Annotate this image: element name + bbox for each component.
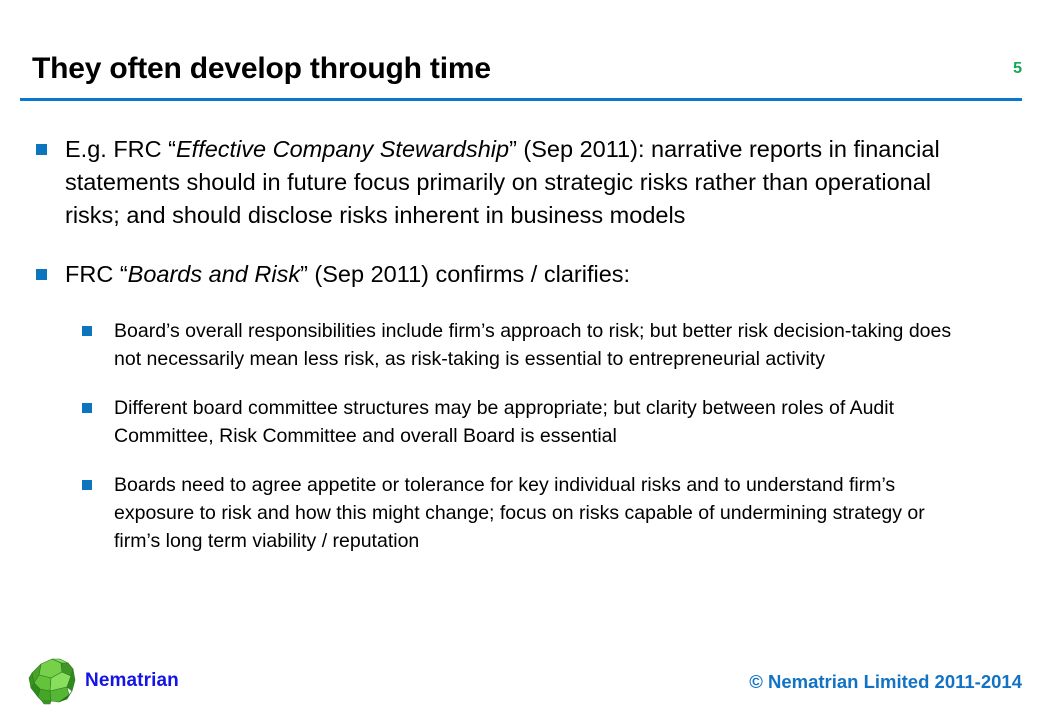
bullet-square-icon xyxy=(82,403,92,413)
bullet-text: FRC “Boards and Risk” (Sep 2011) confirm… xyxy=(65,258,985,291)
plain-text: FRC “ xyxy=(65,261,128,287)
plain-text: ” (Sep 2011) confirms / clarifies: xyxy=(300,261,630,287)
bullet-item-level2: Different board committee structures may… xyxy=(0,394,1040,450)
plain-text: Board’s overall responsibilities include… xyxy=(114,320,951,370)
slide: They often develop through time 5 E.g. F… xyxy=(0,0,1040,720)
slide-number: 5 xyxy=(1013,60,1022,78)
title-divider xyxy=(20,98,1022,101)
bullet-text: Different board committee structures may… xyxy=(114,394,974,450)
emphasis-text: Boards and Risk xyxy=(128,261,300,287)
bullet-item-level1: FRC “Boards and Risk” (Sep 2011) confirm… xyxy=(0,258,1040,291)
title-row: They often develop through time 5 xyxy=(0,52,1040,96)
bullet-text: E.g. FRC “Effective Company Stewardship”… xyxy=(65,133,985,232)
plain-text: Boards need to agree appetite or toleran… xyxy=(114,474,925,552)
copyright-text: © Nematrian Limited 2011-2014 xyxy=(749,671,1022,693)
bullet-item-level2: Boards need to agree appetite or toleran… xyxy=(0,471,1040,555)
bullet-square-icon xyxy=(82,326,92,336)
page-title: They often develop through time xyxy=(32,52,491,86)
slide-body: E.g. FRC “Effective Company Stewardship”… xyxy=(0,133,1040,576)
bullet-item-level2: Board’s overall responsibilities include… xyxy=(0,317,1040,373)
emphasis-text: Effective Company Stewardship xyxy=(176,136,509,162)
plain-text: E.g. FRC “ xyxy=(65,136,176,162)
bullet-square-icon xyxy=(36,144,47,155)
bullet-square-icon xyxy=(36,269,47,280)
slide-footer: Nematrian © Nematrian Limited 2011-2014 xyxy=(0,634,1040,720)
polyhedron-sphere-icon xyxy=(27,656,77,706)
brand-logo: Nematrian xyxy=(27,656,179,706)
bullet-text: Board’s overall responsibilities include… xyxy=(114,317,974,373)
bullet-square-icon xyxy=(82,480,92,490)
bullet-text: Boards need to agree appetite or toleran… xyxy=(114,471,974,555)
plain-text: Different board committee structures may… xyxy=(114,397,894,447)
bullet-item-level1: E.g. FRC “Effective Company Stewardship”… xyxy=(0,133,1040,232)
brand-name: Nematrian xyxy=(85,670,179,692)
